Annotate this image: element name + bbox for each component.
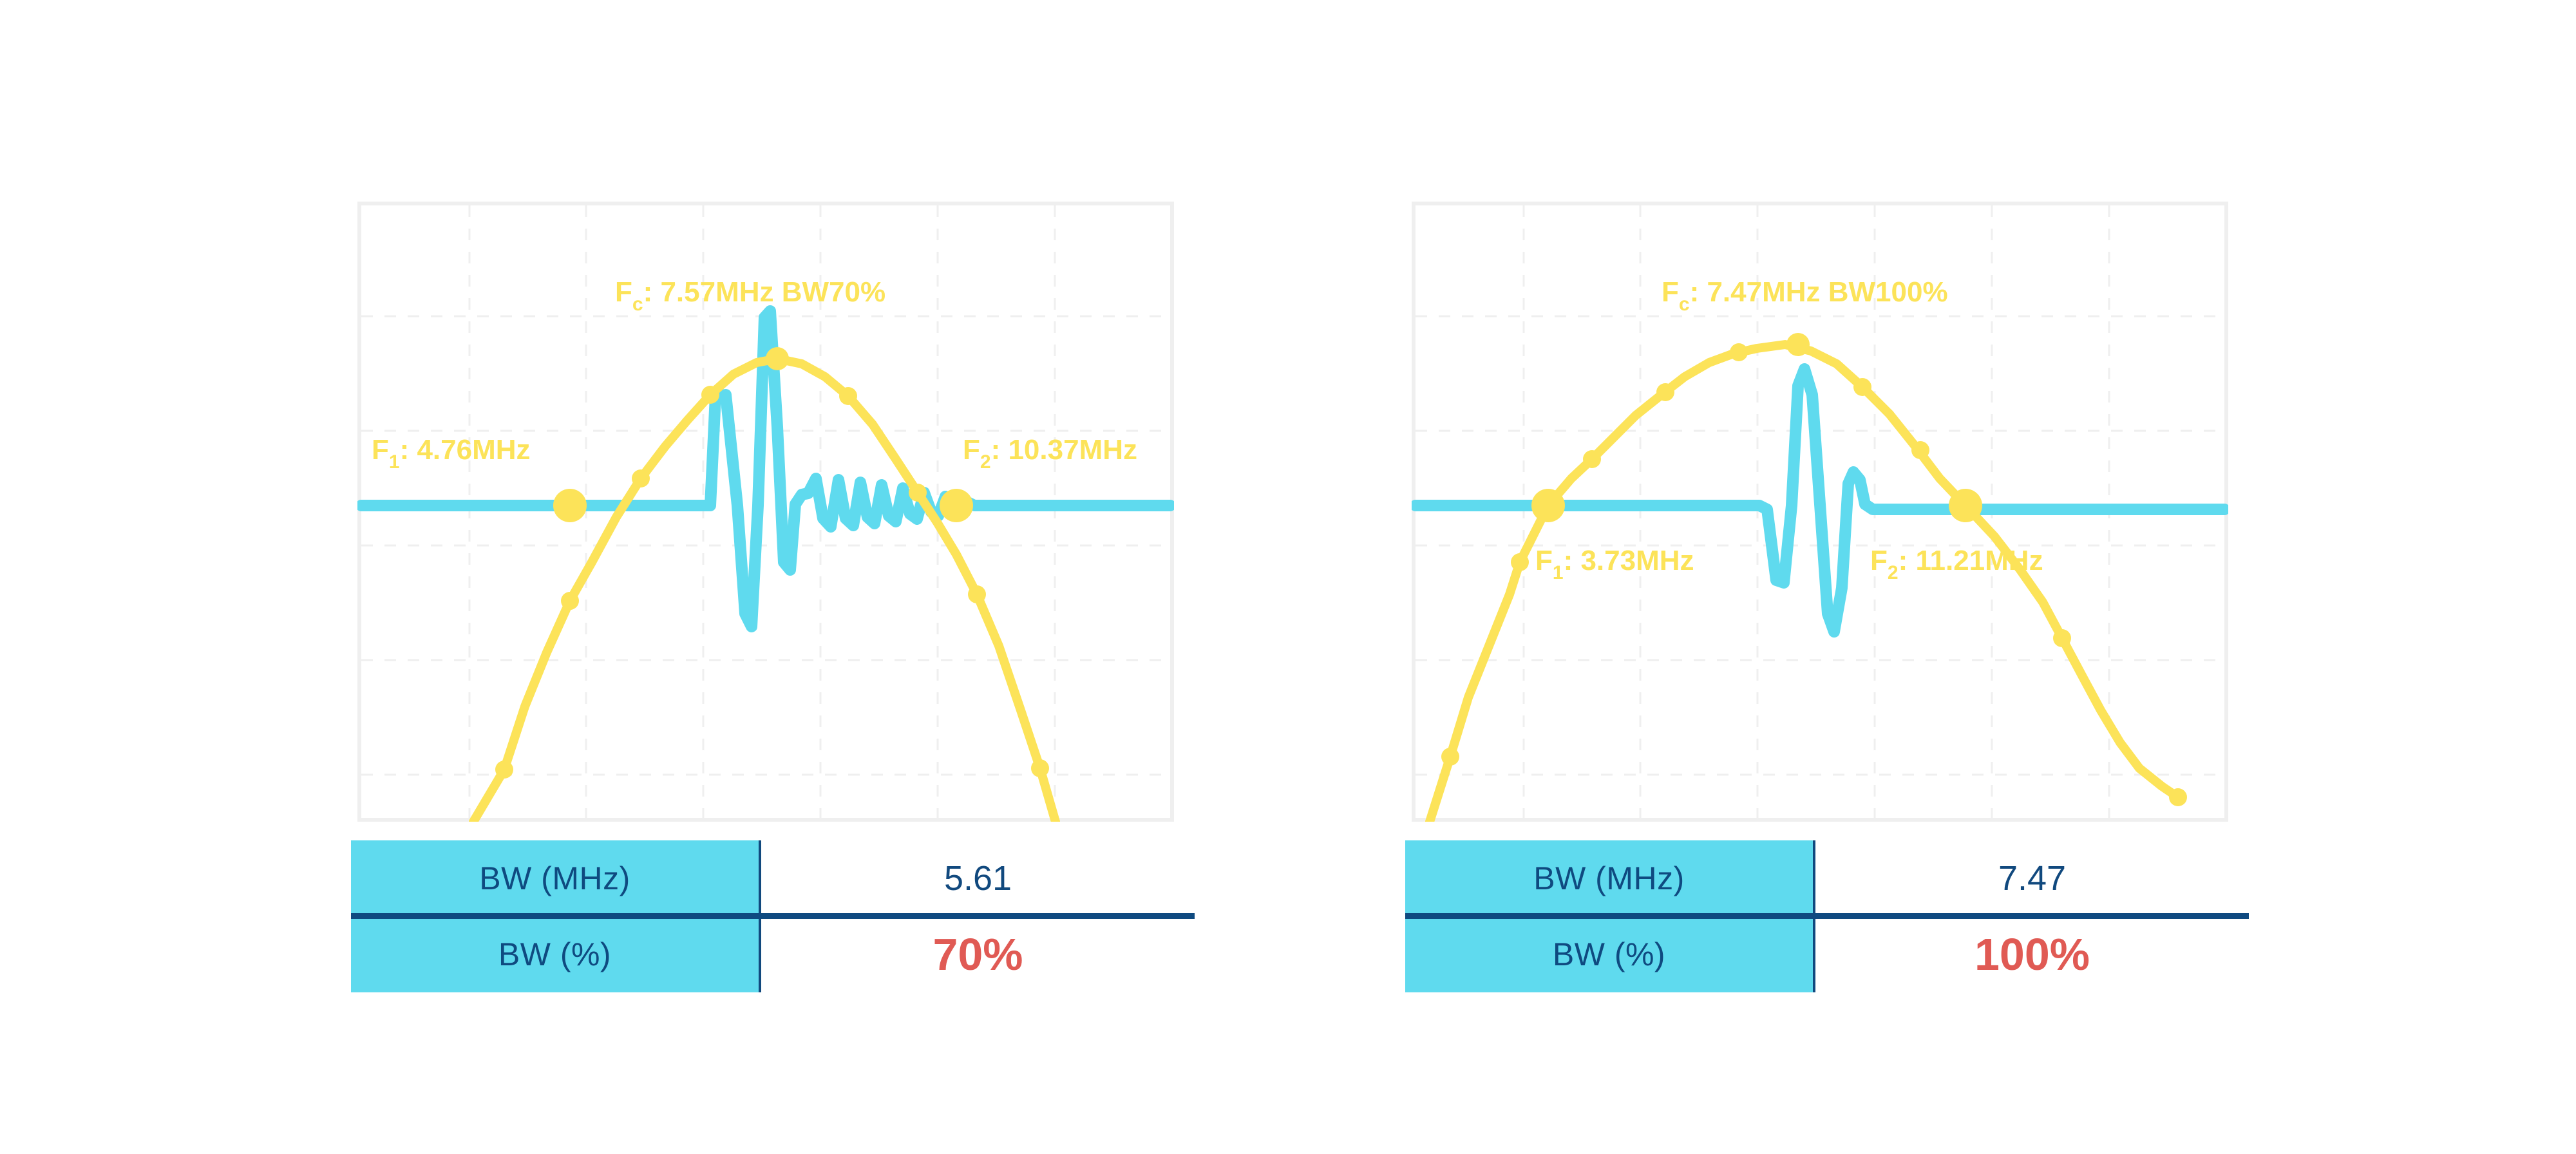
- svg-text:F2: 11.21MHz: F2: 11.21MHz: [1870, 545, 2043, 583]
- bw-pct-label: BW (%): [351, 916, 761, 992]
- bw-table-70: BW (MHz) 5.61 BW (%) 70%: [351, 840, 1195, 992]
- f1-symbol: F: [372, 434, 389, 466]
- fc-text: : 7.47MHz BW100%: [1690, 276, 1948, 308]
- svg-text:Fc: 7.47MHz BW100%: Fc: 7.47MHz BW100%: [1662, 276, 1948, 315]
- annotation-f1: F1: 4.76MHz: [372, 434, 531, 473]
- f2-text: : 11.21MHz: [1899, 545, 2043, 576]
- fc-symbol: F: [1662, 276, 1679, 308]
- f1-text: : 4.76MHz: [400, 434, 531, 466]
- fc-subscript: c: [1679, 294, 1690, 315]
- plot-svg-70: Fc: 7.57MHz BW70% F1: 4.76MHz F2: 10.37M…: [357, 202, 1174, 822]
- annotation-fc: Fc: 7.57MHz BW70%: [615, 276, 885, 315]
- bw-pct-value-cell: 70%: [761, 916, 1195, 992]
- bw-table-100: BW (MHz) 7.47 BW (%) 100%: [1405, 840, 2249, 992]
- plot-svg-100: Fc: 7.47MHz BW100% F1: 3.73MHz F2: 11.21…: [1412, 202, 2228, 822]
- fc-symbol: F: [615, 276, 632, 308]
- marker-f1: [553, 489, 587, 522]
- chart-panel-70: Fc: 7.57MHz BW70% F1: 4.76MHz F2: 10.37M…: [357, 202, 1174, 822]
- bw-mhz-value-cell: 5.61: [761, 840, 1195, 916]
- bw-mhz-value: 5.61: [944, 858, 1012, 898]
- bw-pct-value-cell: 100%: [1815, 916, 2249, 992]
- f2-subscript: 2: [1888, 562, 1899, 583]
- annotation-fc: Fc: 7.47MHz BW100%: [1662, 276, 1948, 315]
- spectrum-envelope: [1430, 345, 2178, 822]
- bw-pct-value: 100%: [1975, 929, 2090, 980]
- f1-text: : 3.73MHz: [1564, 545, 1694, 576]
- svg-text:F1: 4.76MHz: F1: 4.76MHz: [372, 434, 531, 473]
- f1-subscript: 1: [1553, 562, 1564, 583]
- table-row: BW (MHz) 7.47: [1405, 840, 2249, 916]
- bw-mhz-value: 7.47: [1998, 858, 2066, 898]
- chart-panel-100: Fc: 7.47MHz BW100% F1: 3.73MHz F2: 11.21…: [1412, 202, 2228, 822]
- f2-subscript: 2: [980, 451, 991, 473]
- f2-symbol: F: [1870, 545, 1888, 576]
- bw-mhz-value-cell: 7.47: [1815, 840, 2249, 916]
- table-row: BW (MHz) 5.61: [351, 840, 1195, 916]
- bw-mhz-label: BW (MHz): [1405, 840, 1815, 916]
- fc-text: : 7.57MHz BW70%: [643, 276, 886, 308]
- marker-f2: [1949, 489, 1982, 522]
- marker-f1: [1531, 489, 1565, 522]
- fc-subscript: c: [632, 294, 643, 315]
- f1-symbol: F: [1535, 545, 1553, 576]
- annotation-f2: F2: 11.21MHz: [1870, 545, 2043, 583]
- svg-text:F2: 10.37MHz: F2: 10.37MHz: [963, 434, 1137, 473]
- svg-text:Fc: 7.57MHz BW70%: Fc: 7.57MHz BW70%: [615, 276, 885, 315]
- annotation-f1: F1: 3.73MHz: [1535, 545, 1694, 583]
- bw-pct-value: 70%: [933, 929, 1023, 980]
- annotation-f2: F2: 10.37MHz: [963, 434, 1137, 473]
- f2-text: : 10.37MHz: [991, 434, 1137, 466]
- f2-symbol: F: [963, 434, 980, 466]
- table-row: BW (%) 100%: [1405, 916, 2249, 992]
- f1-subscript: 1: [389, 451, 400, 473]
- bw-pct-label: BW (%): [1405, 916, 1815, 992]
- table-row: BW (%) 70%: [351, 916, 1195, 992]
- bw-mhz-label: BW (MHz): [351, 840, 761, 916]
- marker-f2: [940, 489, 973, 522]
- svg-text:F1: 3.73MHz: F1: 3.73MHz: [1535, 545, 1694, 583]
- screenshot-root: Fc: 7.57MHz BW70% F1: 4.76MHz F2: 10.37M…: [0, 0, 2576, 1154]
